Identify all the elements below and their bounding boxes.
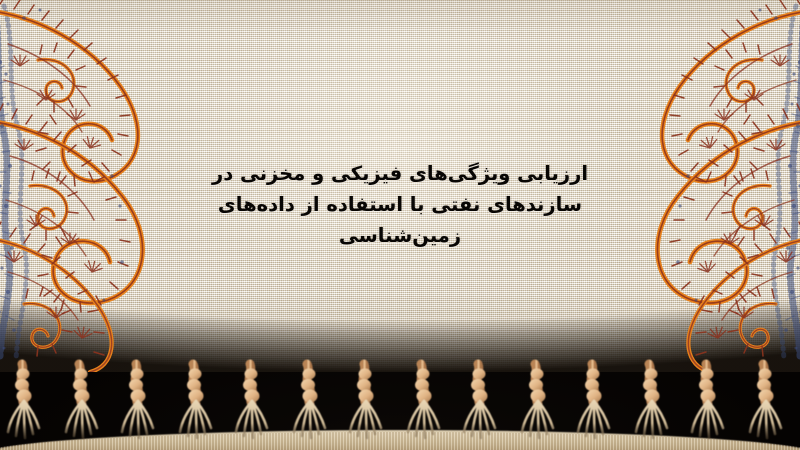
slide-canvas: ارزیابی ویژگی‌های فیزیکی و مخزنی در سازن… [0, 0, 800, 450]
embroidered-cloth [0, 0, 800, 372]
